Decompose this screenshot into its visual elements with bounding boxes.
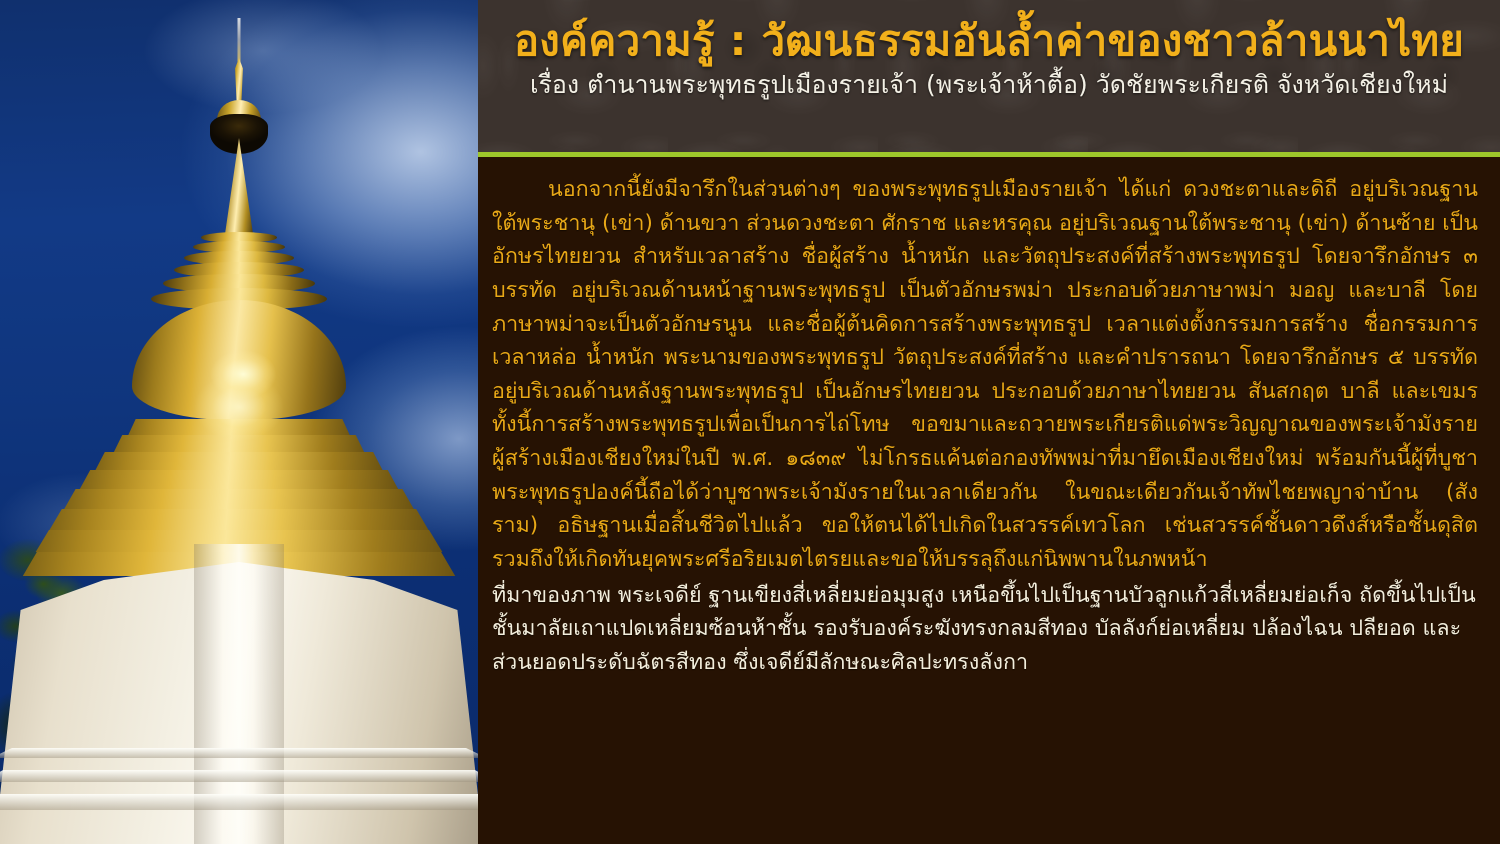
header-banner: องค์ความรู้ : วัฒนธรรมอันล้ำค่าของชาวล้า… [478, 0, 1500, 152]
image-source-caption: ที่มาของภาพ พระเจดีย์ ฐานเขียงสี่เหลี่ยม… [492, 579, 1478, 680]
body-paragraph-1: นอกจากนี้ยังมีจารึกในส่วนต่างๆ ของพระพุท… [492, 173, 1478, 577]
content-panel: องค์ความรู้ : วัฒนธรรมอันล้ำค่าของชาวล้า… [478, 0, 1500, 844]
chedi-tier-6 [83, 452, 395, 470]
chedi-base-ledge-2 [0, 770, 478, 782]
chedi-needle-icon [238, 18, 241, 62]
page-title: องค์ความรู้ : วัฒนธรรมอันล้ำค่าของชาวล้า… [478, 16, 1500, 66]
chedi-tier-3 [33, 509, 445, 530]
article-body: นอกจากนี้ยังมีจารึกในส่วนต่างๆ ของพระพุท… [478, 157, 1500, 844]
chedi-tier-5 [66, 470, 412, 489]
chedi-tier-7 [100, 435, 378, 452]
chedi-base-ledge-3 [0, 748, 478, 758]
slide-root: องค์ความรู้ : วัฒนธรรมอันล้ำค่าของชาวล้า… [0, 0, 1500, 844]
chedi-tier-4 [49, 489, 429, 509]
header-text-block: องค์ความรู้ : วัฒนธรรมอันล้ำค่าของชาวล้า… [478, 0, 1500, 100]
chedi-photo [0, 0, 478, 844]
page-subtitle: เรื่อง ตำนานพระพุทธรูปเมืองรายเจ้า (พระเ… [478, 70, 1500, 100]
chedi-tier-8 [116, 419, 362, 435]
chedi-base-ledge-1 [0, 794, 478, 810]
